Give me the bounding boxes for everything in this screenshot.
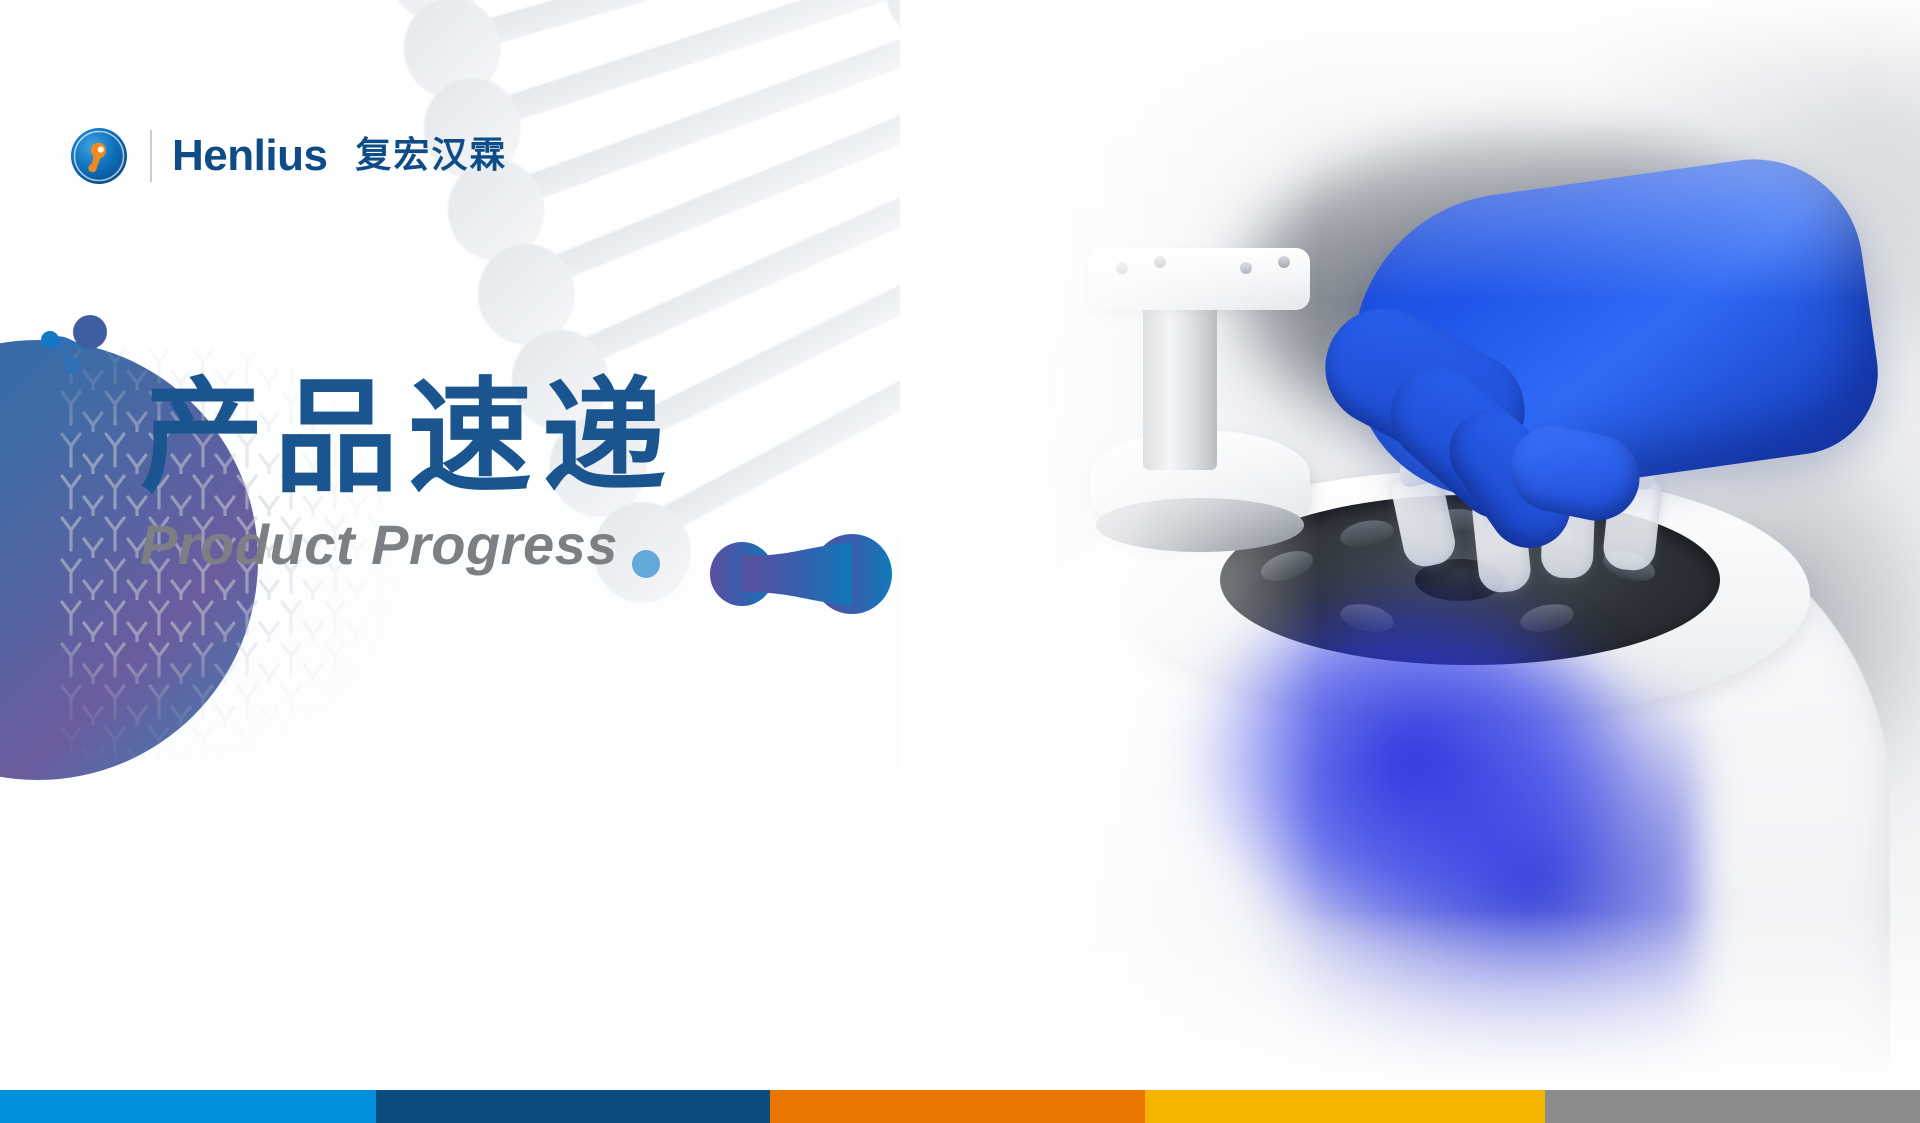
color-bar-segment-navy-blue — [376, 1090, 770, 1123]
color-bar-segment-amber — [1145, 1090, 1545, 1123]
logo-name-cn: 复宏汉霖 — [355, 138, 507, 174]
henlius-logo[interactable]: Henlius 复宏汉霖 — [70, 120, 507, 192]
color-bar-segment-orange — [770, 1090, 1145, 1123]
henlius-logo-mark — [70, 127, 128, 185]
page-subtitle: Product Progress — [140, 514, 900, 576]
page-title: 产品速递 — [140, 372, 900, 506]
molecule-icon-small — [28, 306, 138, 386]
color-bar-segment-light-blue — [0, 1090, 376, 1123]
photo-fade-bottom — [900, 910, 1920, 1090]
title-slide: Henlius 复宏汉霖 产品速递 Product Progress — [0, 0, 1920, 1123]
photo-fade-top — [900, 0, 1920, 300]
logo-divider — [150, 130, 152, 182]
logo-name-en: Henlius — [172, 134, 327, 178]
title-block: 产品速递 Product Progress — [140, 372, 900, 576]
color-bar-segment-grey — [1545, 1090, 1920, 1123]
bottom-color-bar — [0, 1090, 1920, 1123]
lab-photo — [900, 0, 1920, 1090]
